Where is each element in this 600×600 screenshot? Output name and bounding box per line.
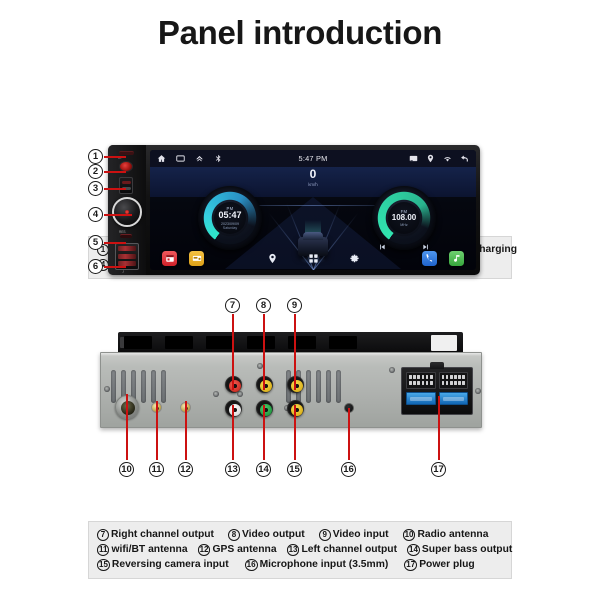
legend-text: GPS antenna: [212, 542, 276, 557]
clock-gauge[interactable]: PM 05:47 2023/09/09 Saturday: [198, 186, 262, 250]
legend-item-10: 10 Radio antenna: [403, 527, 489, 542]
legend-item-14: 14 Super bass output: [407, 542, 512, 557]
legend-num: 9: [319, 529, 331, 541]
power-plug-connector[interactable]: [401, 367, 473, 415]
legend-text: Right channel output: [111, 527, 214, 542]
callout-1: 1: [88, 149, 103, 164]
type-c-charging-port[interactable]: [119, 177, 133, 194]
callout-3: 3: [88, 181, 103, 196]
radio-gauge[interactable]: FM 108.00 MHz: [372, 186, 436, 250]
callout-12: 12: [178, 462, 193, 477]
leader-line-11: [156, 401, 158, 460]
legend-text: Radio antenna: [417, 527, 488, 542]
settings-gear-icon[interactable]: [349, 253, 360, 264]
callout-11: 11: [149, 462, 164, 477]
legend-num: 12: [198, 544, 211, 556]
legend-item-9: 9 Video input: [319, 527, 389, 542]
voice-pickup-hole: [119, 151, 134, 155]
front-panel-diagram: 1 2 3 4 5 6 IR RES ♪: [0, 61, 600, 211]
screw-hole: [475, 388, 481, 394]
legend-item-11: 11 wifi/BT antenna: [97, 542, 188, 557]
legend-num: 13: [287, 544, 300, 556]
legend-item-17: 17 Power plug: [404, 557, 474, 572]
legend-item-12: 12 GPS antenna: [198, 542, 277, 557]
callout-5: 5: [88, 235, 103, 250]
radio-frequency-unit: MHz: [400, 223, 407, 227]
leader-line-17: [438, 396, 440, 460]
screw-hole: [237, 391, 243, 397]
callout-8: 8: [256, 298, 271, 313]
callout-13: 13: [225, 462, 240, 477]
legend-num: 11: [97, 544, 109, 556]
screw-hole: [389, 367, 395, 373]
leader-line-10: [126, 394, 128, 460]
leader-line-16: [348, 408, 350, 460]
page-title: Panel introduction: [0, 0, 600, 49]
shroud-vents: [124, 336, 357, 349]
callout-15: 15: [287, 462, 302, 477]
legend-text: Reversing camera input: [112, 557, 229, 572]
iso-latch: [430, 362, 444, 369]
legend-text: Video output: [242, 527, 305, 542]
iso-pin-block: [406, 372, 436, 389]
speed-readout: 0 km/h: [150, 168, 476, 187]
callout-9: 9: [287, 298, 302, 313]
leader-line-4: [104, 214, 132, 216]
legend-row: 15 Reversing camera input 16 Microphone …: [97, 557, 503, 572]
iso-fuse: [406, 392, 436, 405]
legend-num: 10: [403, 529, 416, 541]
callout-10: 10: [119, 462, 134, 477]
callout-4: 4: [88, 207, 103, 222]
legend-num: 15: [97, 559, 110, 571]
rear-shroud: [118, 332, 463, 354]
leader-line-6: [104, 266, 126, 268]
radio-icon: [192, 253, 202, 263]
clock-time: 05:47: [218, 211, 241, 221]
legend-item-13: 13 Left channel output: [287, 542, 397, 557]
radio-gauge-face: FM 108.00 MHz: [388, 202, 420, 234]
music-app-icon[interactable]: [449, 251, 464, 266]
front-control-panel: IR RES ♪: [108, 145, 146, 275]
app-dock: [150, 248, 476, 268]
legend-row: 7 Right channel output 8 Video output 9 …: [97, 527, 503, 542]
callout-2: 2: [88, 164, 103, 179]
leader-line-7: [232, 314, 234, 390]
callout-7: 7: [225, 298, 240, 313]
rear-panel-diagram: 7 8 9: [0, 290, 600, 515]
legend-text: Video input: [333, 527, 389, 542]
legend-rear-panel: 7 Right channel output 8 Video output 9 …: [88, 521, 512, 579]
screw-hole: [213, 391, 219, 397]
callout-6: 6: [88, 259, 103, 274]
leader-line-13: [232, 405, 234, 460]
status-bar: 5:47 PM: [150, 150, 476, 167]
legend-num: 17: [404, 559, 417, 571]
speed-unit: km/h: [150, 182, 476, 187]
navigation-app-icon[interactable]: [267, 253, 278, 264]
music-mark-icon: ♪: [122, 269, 125, 275]
speed-value: 0: [150, 168, 476, 180]
legend-num: 16: [245, 559, 258, 571]
leader-line-3: [104, 188, 126, 190]
calendar-app-icon[interactable]: [162, 251, 177, 266]
iso-pin-block: [439, 372, 469, 389]
music-note-icon: [452, 253, 462, 263]
legend-text: Super bass output: [422, 542, 512, 557]
shroud-label-tab: [431, 335, 457, 351]
leader-line-12: [185, 401, 187, 460]
legend-row: 11 wifi/BT antenna 12 GPS antenna 13 Lef…: [97, 542, 503, 557]
clock-gauge-face: PM 05:47 2023/09/09 Saturday: [214, 202, 246, 234]
legend-text: wifi/BT antenna: [111, 542, 187, 557]
legend-item-8: 8 Video output: [228, 527, 305, 542]
radio-frequency: 108.00: [392, 214, 416, 223]
callout-14: 14: [256, 462, 271, 477]
leader-line-2: [104, 171, 126, 173]
calendar-icon: [165, 253, 175, 263]
legend-num: 8: [228, 529, 240, 541]
screw-hole: [104, 386, 110, 392]
legend-item-7: 7 Right channel output: [97, 527, 214, 542]
callout-17: 17: [431, 462, 446, 477]
legend-num: 14: [407, 544, 420, 556]
status-bar-clock: 5:47 PM: [150, 154, 476, 163]
leader-line-5: [104, 242, 126, 244]
clock-weekday: Saturday: [223, 226, 237, 230]
legend-text: Left channel output: [301, 542, 397, 557]
legend-num: 7: [97, 529, 109, 541]
leader-line-1: [104, 156, 126, 158]
iso-fuse: [439, 392, 469, 405]
lcd-screen[interactable]: 5:47 PM 0 km/h: [150, 150, 476, 270]
phone-icon: [425, 253, 435, 263]
head-unit-front: IR RES ♪ 5:47 PM: [108, 145, 480, 275]
phone-app-icon[interactable]: [422, 251, 437, 266]
callout-16: 16: [341, 462, 356, 477]
legend-item-16: 16 Microphone input (3.5mm): [245, 557, 389, 572]
legend-text: Power plug: [419, 557, 475, 572]
reset-hole[interactable]: [120, 234, 132, 238]
volume-knob[interactable]: [112, 197, 142, 227]
leader-line-9: [294, 314, 296, 390]
radio-app-icon[interactable]: [189, 251, 204, 266]
lcd-content: 0 km/h PM: [150, 167, 476, 270]
leader-line-15: [294, 405, 296, 460]
leader-line-14: [263, 405, 265, 460]
legend-item-15: 15 Reversing camera input: [97, 557, 229, 572]
all-apps-icon[interactable]: [308, 253, 319, 264]
legend-text: Microphone input (3.5mm): [260, 557, 389, 572]
leader-line-8: [263, 314, 265, 390]
